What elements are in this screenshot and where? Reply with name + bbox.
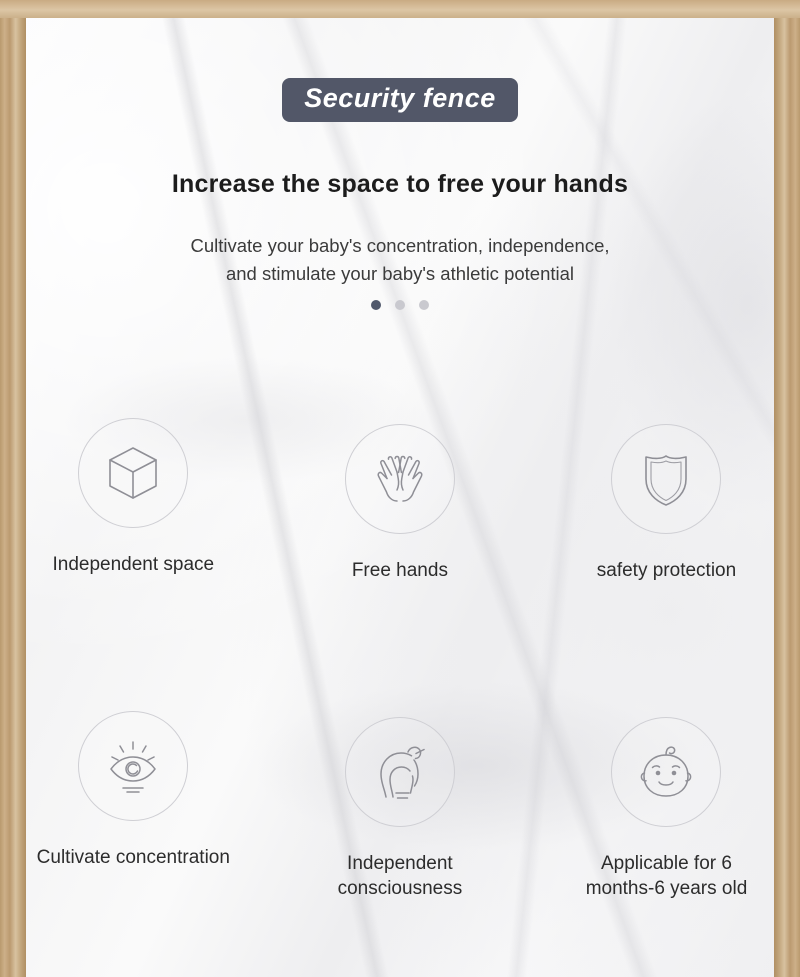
subheadline-line-2: and stimulate your baby's athletic poten…	[0, 260, 800, 288]
feature-icon-circle	[611, 424, 721, 534]
wood-edge-top	[0, 0, 800, 18]
feature-icon-circle	[78, 418, 188, 528]
page-content: Security fence Increase the space to fre…	[0, 0, 800, 977]
feature-safety-protection: safety protection	[533, 418, 800, 583]
headline-text: Increase the space to free your hands	[0, 170, 800, 199]
feature-label-line-2: consciousness	[338, 876, 463, 901]
feature-label: safety protection	[597, 558, 736, 583]
feature-label: Independent consciousness	[338, 851, 463, 901]
feature-cultivate-concentration: Cultivate concentration	[0, 711, 267, 901]
subheadline-text: Cultivate your baby's concentration, ind…	[0, 232, 800, 288]
feature-icon-circle	[78, 711, 188, 821]
page-title: Security fence	[282, 78, 518, 122]
feature-label: Applicable for 6 months-6 years old	[586, 851, 748, 901]
open-hands-icon	[368, 451, 432, 507]
shield-icon	[640, 449, 692, 509]
carousel-dot-3[interactable]	[419, 300, 429, 310]
title-banner: Security fence	[0, 78, 800, 122]
feature-independent-space: Independent space	[0, 418, 267, 583]
feature-grid: Independent space	[0, 418, 800, 901]
carousel-dot-2[interactable]	[395, 300, 405, 310]
baby-face-icon	[637, 742, 695, 802]
wood-edge-right	[774, 0, 800, 977]
carousel-dot-1[interactable]	[371, 300, 381, 310]
lightbulb-head-icon	[372, 743, 428, 801]
feature-independent-consciousness: Independent consciousness	[267, 711, 534, 901]
cube-icon	[105, 444, 161, 502]
feature-label: Free hands	[352, 558, 448, 583]
feature-age-range: Applicable for 6 months-6 years old	[533, 711, 800, 901]
feature-row-2: Cultivate concentration	[0, 711, 800, 901]
feature-label: Independent space	[52, 552, 214, 577]
feature-icon-circle	[345, 717, 455, 827]
eye-focus-icon	[103, 736, 163, 796]
subheadline-line-1: Cultivate your baby's concentration, ind…	[0, 232, 800, 260]
feature-icon-circle	[345, 424, 455, 534]
promo-page: Security fence Increase the space to fre…	[0, 0, 800, 977]
feature-free-hands: Free hands	[267, 418, 534, 583]
feature-row-1: Independent space	[0, 418, 800, 583]
feature-label-line-1: Applicable for 6	[586, 851, 748, 876]
wood-edge-left	[0, 0, 26, 977]
feature-label-line-2: months-6 years old	[586, 876, 748, 901]
feature-label-line-1: Independent	[338, 851, 463, 876]
feature-label: Cultivate concentration	[37, 845, 230, 870]
feature-icon-circle	[611, 717, 721, 827]
carousel-dots[interactable]	[0, 300, 800, 310]
